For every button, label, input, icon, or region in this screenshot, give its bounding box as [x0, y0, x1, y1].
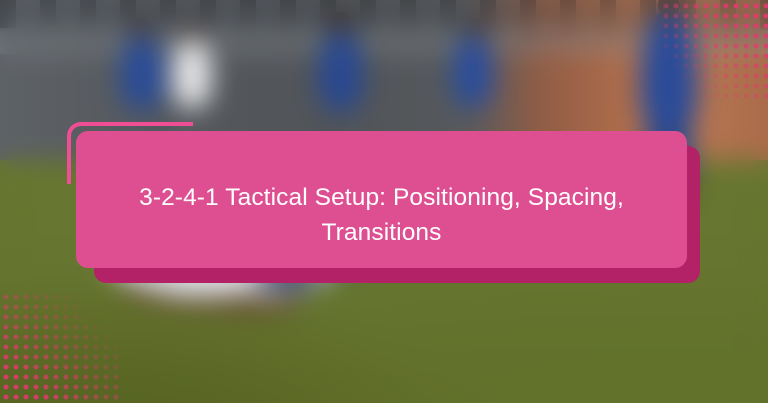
page-title: 3-2-4-1 Tactical Setup: Positioning, Spa…: [76, 147, 687, 284]
hero-banner: 3-2-4-1 Tactical Setup: Positioning, Spa…: [0, 0, 768, 403]
